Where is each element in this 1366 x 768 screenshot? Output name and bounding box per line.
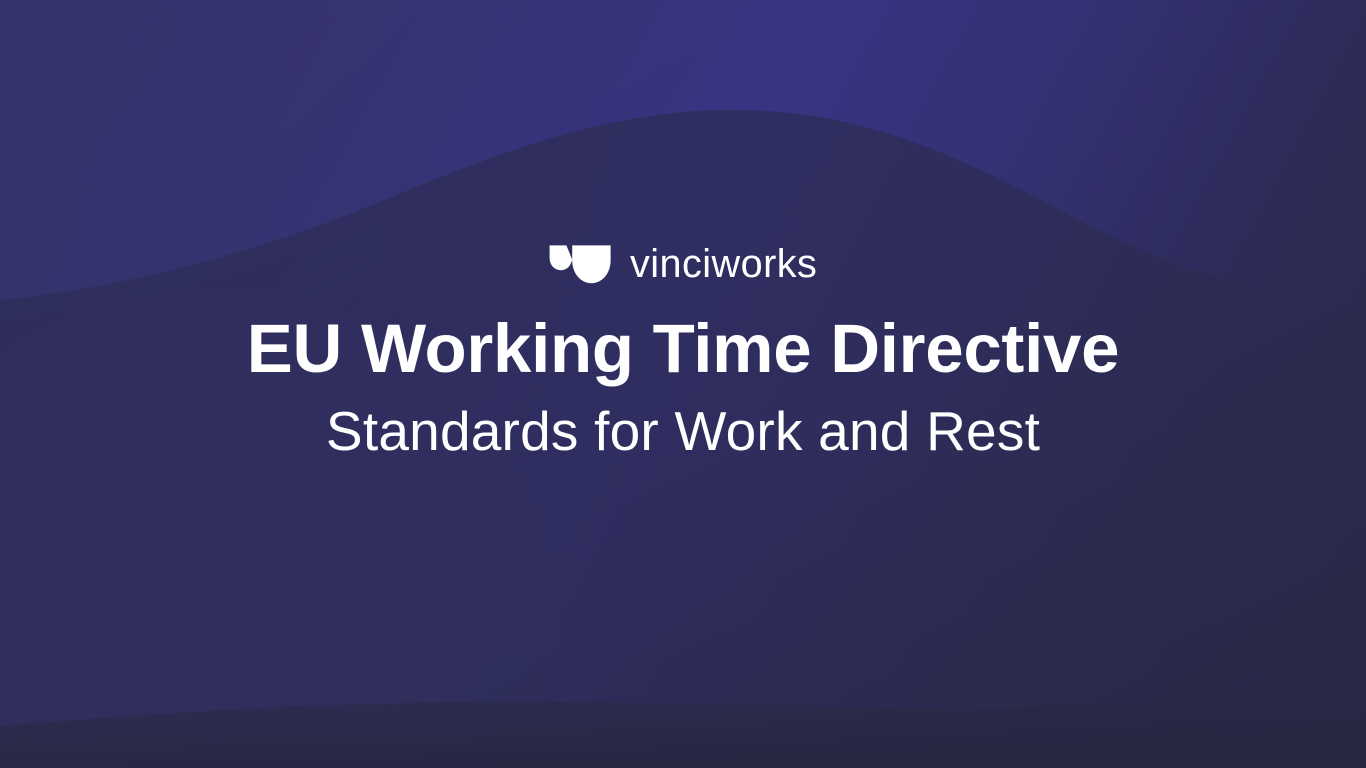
brand-wordmark: vinciworks [630,244,817,284]
slide-headline: EU Working Time Directive [247,312,1119,385]
brand-logo-lockup: vinciworks [548,238,818,290]
title-slide: vinciworks EU Working Time Directive Sta… [0,0,1366,768]
slide-content: vinciworks EU Working Time Directive Sta… [0,0,1366,768]
slide-subheadline: Standards for Work and Rest [326,401,1040,462]
vinciworks-w-mark-icon [548,243,612,285]
